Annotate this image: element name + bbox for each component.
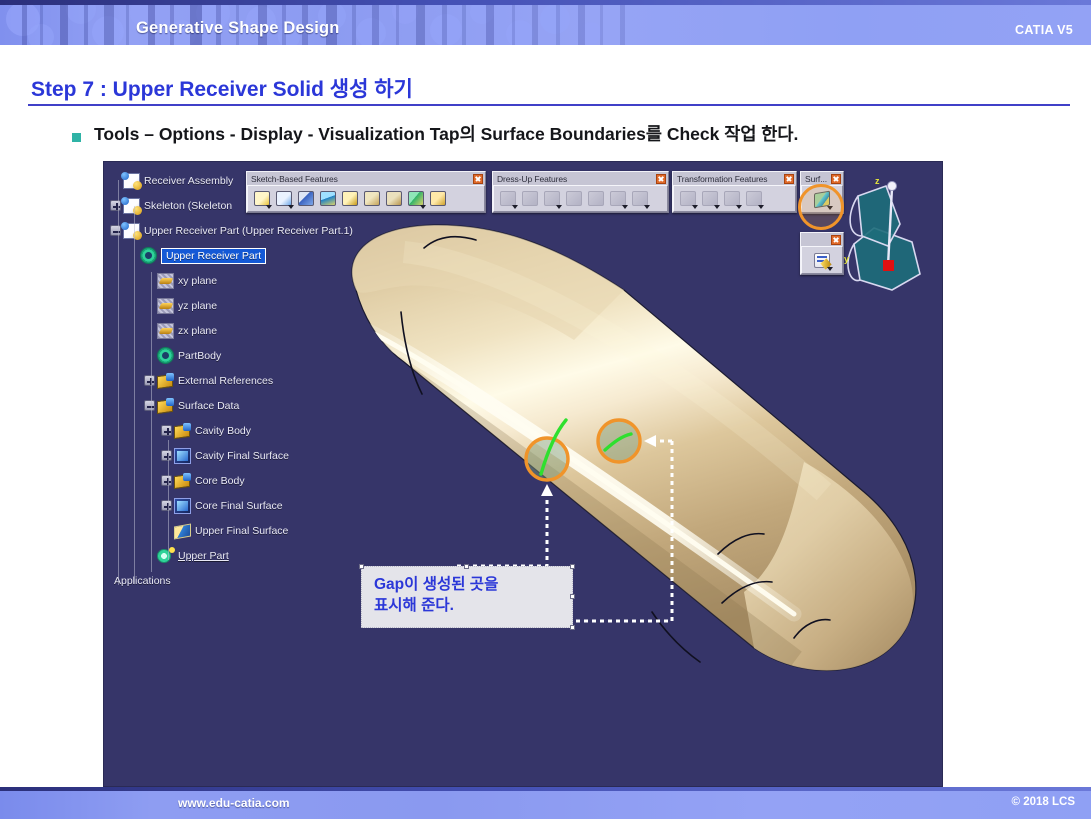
- upper-surface-icon: [174, 523, 191, 539]
- tree-item-label: PartBody: [178, 350, 221, 362]
- external-refs-icon: [157, 373, 174, 389]
- chevron-down-icon[interactable]: [644, 205, 650, 209]
- close-icon[interactable]: [784, 174, 794, 184]
- callout-line-2: 표시해 준다.: [374, 596, 560, 617]
- tree-item-label: Applications: [114, 575, 171, 587]
- tree-item-label: Skeleton (Skeleton: [144, 200, 232, 212]
- tree-item-label: Cavity Body: [195, 425, 251, 437]
- tree-item-label: xy plane: [178, 275, 217, 287]
- expand-icon[interactable]: [110, 200, 121, 211]
- header-title: Generative Shape Design: [136, 19, 340, 38]
- toolbar-buttons[interactable]: [801, 246, 843, 274]
- compass-widget[interactable]: z y: [844, 170, 943, 300]
- chevron-down-icon[interactable]: [556, 205, 562, 209]
- toolbar-caption: Surf...: [801, 172, 843, 185]
- toolbar-sketcher[interactable]: [800, 232, 844, 275]
- toolbar-button[interactable]: [585, 188, 606, 209]
- page-title-en: Step 7 : Upper Receiver Solid: [31, 78, 330, 101]
- tree-connector: [118, 180, 119, 585]
- specification-tree[interactable]: Receiver AssemblySkeleton (SkeletonUpper…: [110, 168, 385, 593]
- gear-icon: [140, 248, 157, 264]
- tree-item-label: Core Body: [195, 475, 245, 487]
- tree-item-label: Upper Receiver Part: [161, 248, 266, 264]
- toolbar-title: Sketch-Based Features: [251, 174, 338, 184]
- resize-handle-ne[interactable]: [570, 564, 575, 569]
- leader-arrow-lower: [541, 484, 553, 496]
- toolbar-title: Transformation Features: [677, 174, 767, 184]
- tree-item-label: Surface Data: [178, 400, 239, 412]
- close-icon[interactable]: [473, 174, 483, 184]
- toolbar-caption: Dress-Up Features: [493, 172, 668, 185]
- surface-icon: [174, 448, 191, 464]
- svg-text:y: y: [844, 254, 849, 264]
- title-underline: [28, 104, 1070, 106]
- toolbar-transformation-features[interactable]: Transformation Features: [672, 171, 797, 213]
- expand-icon[interactable]: [161, 450, 172, 461]
- page-title-kr: 생성 하기: [330, 78, 413, 101]
- bullet-text: Tools – Options - Display - Visualizatio…: [94, 124, 798, 146]
- expand-icon[interactable]: [161, 425, 172, 436]
- toolbar-button[interactable]: [607, 188, 628, 209]
- partbody-icon: [157, 348, 174, 364]
- collapse-icon[interactable]: [144, 400, 155, 411]
- toolbar-surfaces[interactable]: Surf...: [800, 171, 844, 214]
- tree-item[interactable]: Upper Receiver Part (Upper Receiver Part…: [110, 218, 385, 243]
- resize-handle-nw[interactable]: [359, 564, 364, 569]
- resize-handle-se[interactable]: [570, 625, 575, 630]
- callout-line-1: Gap이 생성된 곳을: [374, 575, 560, 596]
- toolbar-buttons[interactable]: [673, 185, 796, 212]
- slide-footer: www.edu-catia.com © 2018 LCS: [0, 787, 1091, 819]
- expand-icon[interactable]: [161, 475, 172, 486]
- toolbar-button-surface[interactable]: [812, 189, 833, 210]
- callout-keyword: Gap: [374, 576, 404, 593]
- page-title: Step 7 : Upper Receiver Solid 생성 하기: [31, 73, 413, 103]
- toolbar-buttons[interactable]: [493, 185, 668, 212]
- close-icon[interactable]: [831, 174, 841, 184]
- chevron-down-icon: [827, 206, 833, 210]
- footer-top-rule: [0, 787, 1091, 791]
- chevron-down-icon[interactable]: [692, 205, 698, 209]
- toolbar-button[interactable]: [251, 188, 272, 209]
- footer-website[interactable]: www.edu-catia.com: [178, 796, 290, 810]
- toolbar-button[interactable]: [405, 188, 426, 209]
- toolbar-button[interactable]: [317, 188, 338, 209]
- toolbar-caption: [801, 233, 843, 246]
- svg-text:z: z: [875, 176, 880, 186]
- expand-icon[interactable]: [161, 500, 172, 511]
- chevron-down-icon[interactable]: [288, 205, 294, 209]
- toolbar-button[interactable]: [361, 188, 382, 209]
- external-refs-icon: [157, 398, 174, 414]
- tree-item-label: yz plane: [178, 300, 217, 312]
- toolbar-button[interactable]: [273, 188, 294, 209]
- plane-icon: [157, 323, 174, 339]
- chevron-down-icon[interactable]: [736, 205, 742, 209]
- catia-viewport[interactable]: Receiver AssemblySkeleton (SkeletonUpper…: [103, 161, 943, 787]
- slide-root: Generative Shape Design CATIA V5 Step 7 …: [0, 0, 1091, 819]
- toolbar-button[interactable]: [427, 188, 448, 209]
- toolbar-button[interactable]: [699, 188, 720, 209]
- plane-icon: [157, 298, 174, 314]
- toolbar-button[interactable]: [497, 188, 518, 209]
- header-product-label: CATIA V5: [1015, 23, 1073, 37]
- tree-item-label: Upper Receiver Part (Upper Receiver Part…: [144, 225, 353, 237]
- callout-text-1: 이 생성된 곳을: [404, 576, 498, 593]
- toolbar-button[interactable]: [629, 188, 650, 209]
- document-icon: [123, 198, 140, 214]
- gap-indicator-upper: [598, 420, 640, 462]
- toolbar-button-sketcher[interactable]: [812, 250, 833, 271]
- bullet-square-icon: [72, 133, 81, 142]
- toolbar-button[interactable]: [677, 188, 698, 209]
- close-icon[interactable]: [831, 235, 841, 245]
- document-icon: [123, 223, 140, 239]
- tree-item-label: Upper Final Surface: [195, 525, 288, 537]
- footer-copyright: © 2018 LCS: [1012, 796, 1075, 808]
- toolbar-button[interactable]: [721, 188, 742, 209]
- toolbar-button[interactable]: [339, 188, 360, 209]
- tree-item-label: zx plane: [178, 325, 217, 337]
- chevron-down-icon[interactable]: [758, 205, 764, 209]
- tree-item-label: External References: [178, 375, 273, 387]
- header-top-rule: [0, 0, 1091, 5]
- toolbar-dress-up-features[interactable]: Dress-Up Features: [492, 171, 669, 213]
- toolbar-button[interactable]: [541, 188, 562, 209]
- header-bottom-rule: [0, 45, 1091, 48]
- toolbar-buttons[interactable]: [247, 185, 485, 212]
- slide-header: Generative Shape Design CATIA V5: [0, 0, 1091, 48]
- external-refs-icon: [174, 473, 191, 489]
- bullet-row: Tools – Options - Display - Visualizatio…: [72, 124, 1082, 146]
- tree-item-label: Core Final Surface: [195, 500, 283, 512]
- surface-icon: [174, 498, 191, 514]
- toolbar-button[interactable]: [519, 188, 540, 209]
- chevron-down-icon[interactable]: [266, 205, 272, 209]
- toolbar-title: Surf...: [805, 174, 827, 184]
- close-icon[interactable]: [656, 174, 666, 184]
- toolbar-buttons[interactable]: [801, 185, 843, 213]
- toolbar-caption: Transformation Features: [673, 172, 796, 185]
- chevron-down-icon[interactable]: [420, 205, 426, 209]
- plane-icon: [157, 273, 174, 289]
- toolbar-button[interactable]: [383, 188, 404, 209]
- toolbar-button[interactable]: [743, 188, 764, 209]
- toolbar-caption: Sketch-Based Features: [247, 172, 485, 185]
- tree-connector: [168, 440, 169, 560]
- toolbar-button[interactable]: [295, 188, 316, 209]
- tree-connector: [151, 272, 152, 572]
- tree-item-label: Receiver Assembly: [144, 175, 233, 187]
- resize-handle-e[interactable]: [570, 594, 575, 599]
- collapse-icon[interactable]: [110, 225, 121, 236]
- tree-connector: [134, 206, 135, 584]
- chevron-down-icon[interactable]: [714, 205, 720, 209]
- toolbar-button[interactable]: [563, 188, 584, 209]
- tree-item-label: Upper Part: [178, 550, 229, 562]
- toolbar-sketch-based-features[interactable]: Sketch-Based Features: [246, 171, 486, 213]
- chevron-down-icon[interactable]: [622, 205, 628, 209]
- expand-icon[interactable]: [144, 375, 155, 386]
- chevron-down-icon: [827, 267, 833, 271]
- toolbar-title: Dress-Up Features: [497, 174, 567, 184]
- annotation-callout[interactable]: Gap이 생성된 곳을 표시해 준다.: [361, 566, 573, 628]
- tree-item[interactable]: Upper Receiver Part: [110, 243, 385, 268]
- chevron-down-icon[interactable]: [512, 205, 518, 209]
- document-icon: [123, 173, 140, 189]
- external-refs-icon: [174, 423, 191, 439]
- resize-handle-n[interactable]: [464, 564, 469, 569]
- tree-item-label: Cavity Final Surface: [195, 450, 289, 462]
- upper-part-icon: [157, 548, 174, 564]
